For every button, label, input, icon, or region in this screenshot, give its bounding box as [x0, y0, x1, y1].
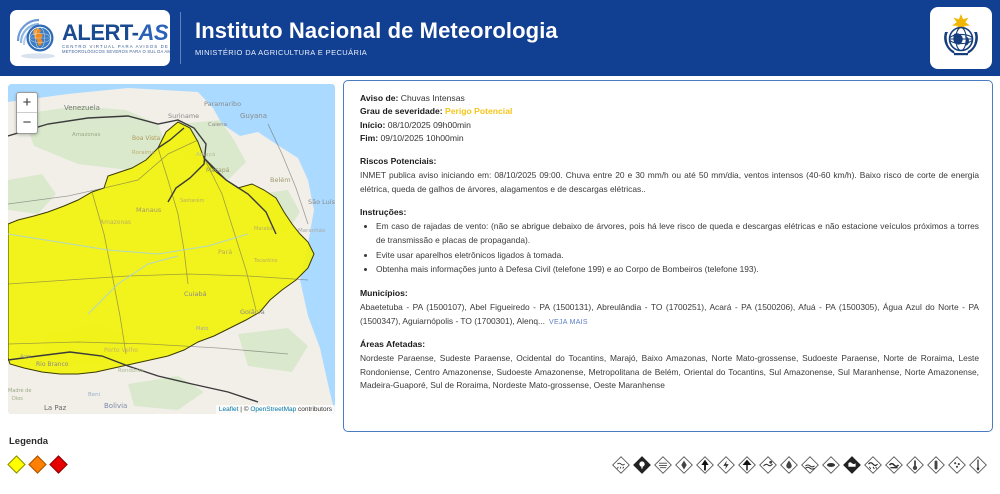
svg-text:Tocantins: Tocantins	[253, 258, 278, 264]
map-zoom-out-button[interactable]: −	[17, 113, 37, 133]
svg-text:São Luís: São Luís	[308, 198, 335, 206]
alert-severity-label: Grau de severidade:	[360, 106, 443, 116]
chuvas-intensas-icon[interactable]	[612, 456, 630, 474]
legend-swatch-grande-perigo[interactable]	[49, 455, 67, 473]
legend-title: Legenda	[9, 436, 48, 447]
wmo-emblem-badge[interactable]	[930, 7, 992, 69]
list-item: Evite usar aparelhos eletrônicos ligados…	[376, 249, 979, 263]
risks-body: INMET publica aviso iniciando em: 08/10/…	[360, 169, 979, 196]
globe-americas-logo-icon	[15, 15, 61, 61]
see-more-link[interactable]: VEJA MAIS	[549, 319, 588, 326]
map-zoom-in-button[interactable]: +	[17, 93, 37, 113]
umidade-icon[interactable]	[948, 456, 966, 474]
header-divider	[180, 12, 181, 64]
map-zoom-controls[interactable]: + −	[16, 92, 38, 134]
instructions-section: Instruções: Em caso de rajadas de vento:…	[360, 207, 979, 276]
leaflet-link[interactable]: Leaflet	[219, 406, 239, 413]
alert-map[interactable]: Venezuela Paramaribo Guyana Suriname Cai…	[8, 84, 335, 414]
svg-text:Dios: Dios	[12, 396, 23, 402]
temperatura-alta-icon[interactable]	[906, 456, 924, 474]
page-subtitle: MINISTÉRIO DA AGRICULTURA E PECUÁRIA	[195, 48, 558, 57]
svg-text:Amapá: Amapá	[196, 151, 215, 158]
alert-end-label: Fim:	[360, 133, 378, 143]
wmo-emblem-icon	[935, 10, 987, 67]
alert-severity-row: Grau de severidade: Perigo Potencial	[360, 105, 979, 118]
svg-text:Caiena: Caiena	[208, 122, 227, 128]
legend-swatch-perigo-potencial[interactable]	[7, 455, 25, 473]
page-title: Instituto Nacional de Meteorologia	[195, 19, 558, 43]
attribution-separator: | ©	[238, 406, 250, 413]
svg-text:Venezuela: Venezuela	[64, 104, 100, 112]
logo-tagline-line-2: METEOROLÓGICOS SEVEROS PARA O SUL DA AMÉ…	[62, 50, 170, 54]
list-item: Em caso de rajadas de vento: (não se abr…	[376, 220, 979, 247]
svg-text:Macapá: Macapá	[206, 167, 230, 174]
instructions-title: Instruções:	[360, 207, 979, 217]
baixa-umidade-icon[interactable]	[780, 456, 798, 474]
attribution-suffix: contributors	[296, 406, 332, 413]
legend-area: Legenda	[0, 436, 1000, 494]
alert-type-row: Aviso de: Chuvas Intensas	[360, 92, 979, 105]
affected-areas-section: Áreas Afetadas: Nordeste Paraense, Sudes…	[360, 339, 979, 393]
svg-text:Acre: Acre	[20, 354, 31, 360]
svg-text:Pará: Pará	[218, 248, 232, 256]
svg-text:Marabá: Marabá	[254, 225, 273, 232]
alert-type-label: Aviso de:	[360, 93, 398, 103]
neve-icon[interactable]	[864, 456, 882, 474]
affected-areas-title: Áreas Afetadas:	[360, 339, 979, 349]
tempestade-icon[interactable]	[633, 456, 651, 474]
maritimo-icon[interactable]	[801, 456, 819, 474]
alert-start-value: 08/10/2025 09h00min	[388, 120, 471, 130]
alert-end-value: 09/10/2025 10h00min	[381, 133, 464, 143]
map-attribution: Leaflet | © OpenStreetMap contributors	[216, 405, 335, 414]
app-header: ALERT-AS CENTRO VIRTUAL PARA AVISOS DE E…	[0, 0, 1000, 76]
granizo-icon[interactable]	[843, 456, 861, 474]
svg-text:Cuiabá: Cuiabá	[184, 290, 207, 298]
risks-section: Riscos Potenciais: INMET publica aviso i…	[360, 156, 979, 196]
affected-areas-body: Nordeste Paraense, Sudeste Paraense, Oci…	[360, 352, 979, 393]
svg-text:Maranhão: Maranhão	[298, 228, 326, 234]
header-title-block: Instituto Nacional de Meteorologia MINIS…	[195, 19, 558, 56]
svg-text:Mato: Mato	[196, 326, 208, 332]
svg-text:Porto Velho: Porto Velho	[104, 347, 138, 354]
declinio-temperatura-icon[interactable]	[822, 456, 840, 474]
tempestade-severa-icon[interactable]	[969, 456, 987, 474]
risks-title: Riscos Potenciais:	[360, 156, 979, 166]
chuva-icon[interactable]	[675, 456, 693, 474]
svg-text:Paramaribo: Paramaribo	[204, 100, 241, 108]
map-canvas[interactable]: Venezuela Paramaribo Guyana Suriname Cai…	[8, 84, 335, 414]
svg-text:Amazonas: Amazonas	[72, 132, 101, 138]
svg-text:Amazonas: Amazonas	[100, 219, 131, 226]
svg-text:Goiânia: Goiânia	[240, 308, 265, 316]
logo-brand-text: ALERT-AS	[62, 20, 168, 45]
geada-icon[interactable]	[885, 456, 903, 474]
nevoeiro-icon[interactable]	[654, 456, 672, 474]
svg-text:La Paz: La Paz	[44, 404, 67, 412]
svg-text:Bolivia: Bolivia	[104, 402, 127, 410]
vendaval-icon[interactable]	[696, 456, 714, 474]
status-badge: Perigo Potencial	[445, 106, 512, 116]
svg-text:Roraima: Roraima	[132, 150, 155, 156]
main-content: Venezuela Paramaribo Guyana Suriname Cai…	[0, 76, 1000, 436]
instructions-list: Em caso de rajadas de vento: (não se abr…	[376, 220, 979, 276]
acumulado-chuva-icon[interactable]	[927, 456, 945, 474]
legend-hazard-icons	[612, 456, 987, 474]
alert-type-value: Chuvas Intensas	[401, 93, 465, 103]
alert-detail-panel: Aviso de: Chuvas Intensas Grau de severi…	[343, 80, 993, 432]
legend-swatch-perigo[interactable]	[28, 455, 46, 473]
list-item: Obtenha mais informações junto à Defesa …	[376, 263, 979, 277]
svg-text:Santarém: Santarém	[180, 197, 204, 204]
descarga-eletrica-icon[interactable]	[717, 456, 735, 474]
openstreetmap-link[interactable]: OpenStreetMap	[250, 406, 296, 413]
municipalities-section: Municípios: Abaetetuba - PA (1500107), A…	[360, 288, 979, 328]
svg-text:Rondônia: Rondônia	[118, 367, 144, 374]
onda-de-calor-icon[interactable]	[759, 456, 777, 474]
municipalities-text: Abaetetuba - PA (1500107), Abel Figueire…	[360, 302, 979, 326]
svg-text:Boa Vista: Boa Vista	[132, 135, 160, 142]
alert-end-row: Fim: 09/10/2025 10h00min	[360, 132, 979, 145]
svg-text:Rio Branco: Rio Branco	[36, 361, 69, 368]
svg-text:Guyana: Guyana	[240, 112, 267, 120]
alert-start-label: Início:	[360, 120, 385, 130]
ventos-costeiros-icon[interactable]	[738, 456, 756, 474]
svg-text:Beni: Beni	[88, 392, 101, 398]
svg-text:Madre de: Madre de	[8, 388, 31, 394]
alert-as-logo[interactable]: ALERT-AS CENTRO VIRTUAL PARA AVISOS DE E…	[10, 10, 170, 66]
alert-start-row: Início: 08/10/2025 09h00min	[360, 119, 979, 132]
svg-text:Suriname: Suriname	[168, 112, 199, 120]
legend-severity-swatches	[10, 458, 65, 471]
municipalities-body: Abaetetuba - PA (1500107), Abel Figueire…	[360, 301, 979, 328]
svg-text:Manaus: Manaus	[136, 206, 162, 214]
svg-text:Belém: Belém	[270, 176, 291, 184]
municipalities-title: Municípios:	[360, 288, 979, 298]
